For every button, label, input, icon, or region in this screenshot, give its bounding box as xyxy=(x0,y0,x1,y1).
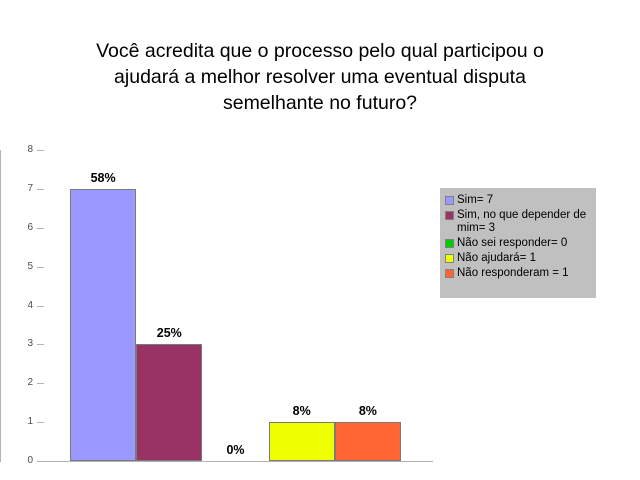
legend-item-label: Sim, no que depender de mim= 3 xyxy=(457,209,592,235)
legend-item: Não ajudará= 1 xyxy=(445,252,592,265)
bar-chart: Você acredita que o processo pelo qual p… xyxy=(0,0,640,480)
legend-item: Sim, no que depender de mim= 3 xyxy=(445,209,592,235)
y-axis-tick-label: 7 xyxy=(0,184,33,195)
bar-value-label: 0% xyxy=(202,444,268,457)
y-axis-tick xyxy=(37,461,44,462)
y-axis-tick-label: 6 xyxy=(0,223,33,234)
bar-value-label: 8% xyxy=(335,405,401,418)
legend-swatch-icon xyxy=(445,269,454,278)
chart-legend: Sim= 7Sim, no que depender de mim= 3Não … xyxy=(440,188,596,298)
legend-item-label: Sim= 7 xyxy=(457,194,493,207)
bar xyxy=(70,189,136,461)
legend-item-label: Não responderam = 1 xyxy=(457,267,569,280)
legend-swatch-icon xyxy=(445,196,454,205)
legend-item: Não sei responder= 0 xyxy=(445,237,592,250)
y-axis-tick-label: 8 xyxy=(0,145,33,156)
x-axis-line xyxy=(43,461,433,462)
y-axis-tick-label: 1 xyxy=(0,417,33,428)
y-axis-tick-label: 2 xyxy=(0,378,33,389)
y-axis-tick-label-text: 7 xyxy=(7,184,33,194)
y-axis-tick-label-text: 1 xyxy=(7,417,33,427)
y-axis-tick-label-text: 6 xyxy=(7,223,33,233)
chart-title: Você acredita que o processo pelo qual p… xyxy=(28,38,612,116)
bar-value-label: 8% xyxy=(269,405,335,418)
bar xyxy=(136,344,202,461)
bar xyxy=(335,422,401,461)
y-axis-tick-label-text: 2 xyxy=(7,378,33,388)
y-axis-tick-label: 5 xyxy=(0,262,33,273)
plot-area: 58%25%0%8%8% xyxy=(43,150,432,461)
bar-value-label: 58% xyxy=(70,172,136,185)
legend-swatch-icon xyxy=(445,239,454,248)
legend-item: Sim= 7 xyxy=(445,194,592,207)
bar-value-label: 25% xyxy=(136,327,202,340)
y-axis-tick-label-text: 0 xyxy=(7,456,33,466)
bar xyxy=(269,422,335,461)
y-axis-tick-label-text: 8 xyxy=(7,145,33,155)
legend-item: Não responderam = 1 xyxy=(445,267,592,280)
legend-swatch-icon xyxy=(445,254,454,263)
legend-item-label: Não sei responder= 0 xyxy=(457,237,567,250)
legend-item-label: Não ajudará= 1 xyxy=(457,252,536,265)
y-axis-tick-label: 4 xyxy=(0,301,33,312)
y-axis-tick-label-text: 3 xyxy=(7,339,33,349)
y-axis-tick-label: 3 xyxy=(0,339,33,350)
legend-swatch-icon xyxy=(445,211,454,220)
y-axis-tick-label: 0 xyxy=(0,456,33,467)
y-axis-tick-label-text: 5 xyxy=(7,262,33,272)
y-axis-tick-label-text: 4 xyxy=(7,301,33,311)
